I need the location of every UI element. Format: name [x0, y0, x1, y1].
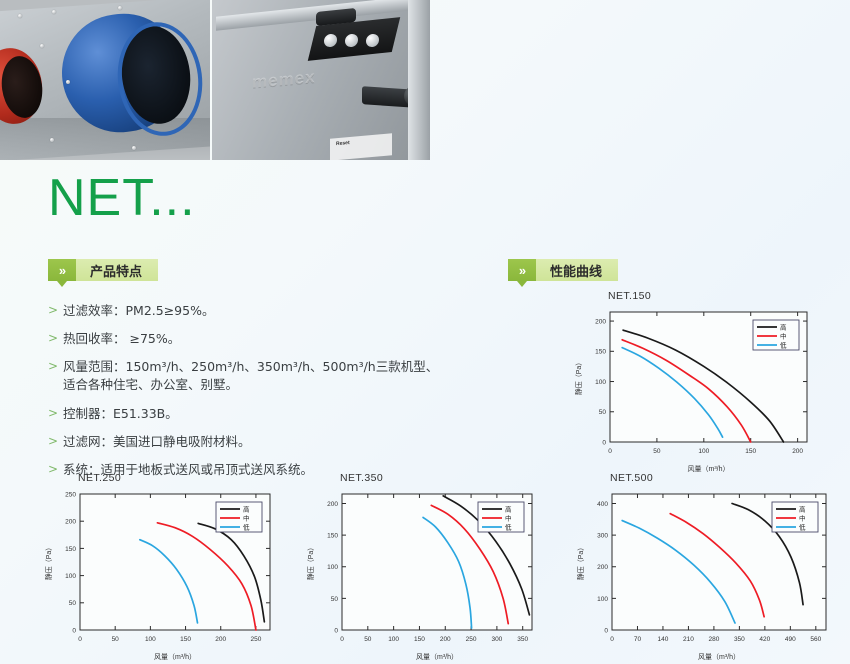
y-tick-label: 100: [65, 573, 76, 580]
performance-chart-net350: NET.350 05010015020025030035005010015020…: [302, 472, 540, 662]
rivet-icon: [18, 14, 22, 18]
y-axis-label: 静压（Pa）: [44, 544, 53, 581]
bullet-arrow-icon: >: [48, 433, 63, 450]
chart-canvas: 0701402102803504204905600100200300400高中低…: [572, 486, 834, 662]
bullet-arrow-icon: >: [48, 405, 63, 422]
y-tick-label: 400: [597, 501, 608, 508]
x-tick-label: 350: [517, 636, 528, 643]
y-tick-label: 50: [331, 596, 339, 603]
product-photo-control-panel: memex Reset: [212, 0, 430, 160]
y-axis-label: 静压（Pa）: [574, 359, 583, 396]
y-tick-label: 200: [595, 318, 606, 325]
x-tick-label: 50: [364, 636, 372, 643]
feature-line-1: 过滤效率：PM2.5≥95%。: [63, 303, 214, 318]
y-tick-label: 100: [597, 596, 608, 603]
x-tick-label: 250: [466, 636, 477, 643]
feature-line-1: 控制器：E51.33B。: [63, 406, 178, 421]
x-tick-label: 420: [759, 636, 770, 643]
rivet-icon: [118, 6, 122, 10]
rivet-icon: [66, 80, 70, 84]
x-tick-label: 150: [180, 636, 191, 643]
page-title: NET...: [48, 172, 196, 224]
x-axis-label: 风量（m³/h）: [154, 653, 196, 661]
legend-label-中: 中: [799, 514, 806, 523]
y-tick-label: 50: [69, 600, 77, 607]
rivet-icon: [52, 10, 56, 14]
section-header-label: 产品特点: [76, 259, 158, 281]
y-tick-label: 200: [65, 519, 76, 526]
x-tick-label: 0: [340, 636, 344, 643]
performance-chart-net150: NET.150 050100150200050100150200高中低风量（m³…: [570, 290, 815, 474]
y-tick-label: 200: [327, 501, 338, 508]
x-tick-label: 250: [250, 636, 261, 643]
y-tick-label: 150: [65, 546, 76, 553]
y-tick-label: 0: [604, 627, 608, 634]
y-tick-label: 150: [595, 349, 606, 356]
feature-line-1: 热回收率： ≥75%。: [63, 331, 180, 346]
x-axis-label: 风量（m³/h）: [698, 653, 740, 661]
x-tick-label: 150: [745, 448, 756, 455]
y-tick-label: 100: [327, 564, 338, 571]
feature-item: > 过滤网：美国进口静电吸附材料。: [48, 433, 488, 451]
x-tick-label: 300: [491, 636, 502, 643]
legend-label-中: 中: [505, 514, 512, 523]
feature-item: > 过滤效率：PM2.5≥95%。: [48, 302, 488, 320]
y-tick-label: 300: [597, 533, 608, 540]
y-tick-label: 0: [602, 439, 606, 446]
performance-chart-net250: NET.250 050100150200250050100150200250高中…: [40, 472, 278, 662]
feature-text: 控制器：E51.33B。: [63, 405, 488, 423]
y-tick-label: 0: [72, 627, 76, 634]
legend-label-高: 高: [243, 505, 250, 514]
x-tick-label: 200: [215, 636, 226, 643]
product-photo-duct-connectors: [0, 0, 210, 160]
x-tick-label: 100: [145, 636, 156, 643]
section-header-label: 性能曲线: [536, 259, 618, 281]
y-tick-label: 50: [599, 409, 607, 416]
feature-item: > 风量范围：150m³/h、250m³/h、350m³/h、500m³/h三款…: [48, 358, 488, 394]
rivet-icon: [132, 146, 136, 150]
bullet-arrow-icon: >: [48, 358, 63, 375]
feature-text: 风量范围：150m³/h、250m³/h、350m³/h、500m³/h三款机型…: [63, 358, 488, 394]
x-tick-label: 200: [440, 636, 451, 643]
x-tick-label: 560: [810, 636, 821, 643]
x-tick-label: 200: [792, 448, 803, 455]
chart-canvas: 050100150200250050100150200250高中低风量（m³/h…: [40, 486, 278, 662]
legend-label-中: 中: [243, 514, 250, 523]
double-chevron-right-icon: »: [48, 259, 76, 281]
performance-chart-net500: NET.500 07014021028035042049056001002003…: [572, 472, 834, 662]
feature-line-1: 风量范围：150m³/h、250m³/h、350m³/h、500m³/h三款机型…: [63, 359, 438, 374]
feature-text: 过滤效率：PM2.5≥95%。: [63, 302, 488, 320]
y-tick-label: 250: [65, 491, 76, 498]
y-tick-label: 150: [327, 533, 338, 540]
chart-title: NET.350: [340, 472, 540, 484]
bullet-arrow-icon: >: [48, 302, 63, 319]
feature-item: > 热回收率： ≥75%。: [48, 330, 488, 348]
x-tick-label: 70: [634, 636, 642, 643]
y-tick-label: 100: [595, 379, 606, 386]
section-header-product-features: » 产品特点: [48, 259, 158, 281]
x-tick-label: 210: [683, 636, 694, 643]
chart-title: NET.250: [78, 472, 278, 484]
y-axis-label: 静压（Pa）: [576, 544, 585, 581]
x-tick-label: 490: [785, 636, 796, 643]
header-photo-strip: memex Reset: [0, 0, 430, 160]
chart-canvas: 050100150200050100150200高中低风量（m³/h）静压（Pa…: [570, 304, 815, 474]
legend-label-低: 低: [780, 341, 787, 350]
legend-label-高: 高: [799, 505, 806, 514]
feature-line-1: 过滤网：美国进口静电吸附材料。: [63, 434, 251, 449]
legend-label-低: 低: [505, 523, 512, 532]
x-tick-label: 0: [610, 636, 614, 643]
x-tick-label: 0: [608, 448, 612, 455]
feature-text: 过滤网：美国进口静电吸附材料。: [63, 433, 488, 451]
section-header-performance-curves: » 性能曲线: [508, 259, 618, 281]
product-features-list: > 过滤效率：PM2.5≥95%。 > 热回收率： ≥75%。 > 风量范围：1…: [48, 302, 488, 489]
y-tick-label: 200: [597, 564, 608, 571]
chart-title: NET.150: [608, 290, 815, 302]
x-tick-label: 100: [698, 448, 709, 455]
x-tick-label: 0: [78, 636, 82, 643]
x-tick-label: 50: [112, 636, 120, 643]
rivet-icon: [40, 44, 44, 48]
y-tick-label: 0: [334, 627, 338, 634]
x-tick-label: 140: [658, 636, 669, 643]
chart-title: NET.500: [610, 472, 834, 484]
x-tick-label: 50: [653, 448, 661, 455]
rivet-icon: [50, 138, 54, 142]
x-tick-label: 280: [708, 636, 719, 643]
panel-right-edge: [408, 0, 430, 160]
x-tick-label: 100: [388, 636, 399, 643]
x-tick-label: 150: [414, 636, 425, 643]
legend-label-低: 低: [243, 523, 250, 532]
panel-sticker: Reset: [330, 133, 392, 160]
chart-canvas: 050100150200250300350050100150200高中低风量（m…: [302, 486, 540, 662]
bullet-arrow-icon: >: [48, 330, 63, 347]
feature-line-2: 适合各种住宅、办公室、别墅。: [63, 376, 488, 394]
feature-item: > 控制器：E51.33B。: [48, 405, 488, 423]
feature-text: 热回收率： ≥75%。: [63, 330, 488, 348]
legend-label-中: 中: [780, 332, 787, 341]
legend-label-高: 高: [780, 323, 787, 332]
double-chevron-right-icon: »: [508, 259, 536, 281]
y-axis-label: 静压（Pa）: [306, 544, 315, 581]
legend-label-低: 低: [799, 523, 806, 532]
x-tick-label: 350: [734, 636, 745, 643]
x-axis-label: 风量（m³/h）: [416, 653, 458, 661]
legend-label-高: 高: [505, 505, 512, 514]
